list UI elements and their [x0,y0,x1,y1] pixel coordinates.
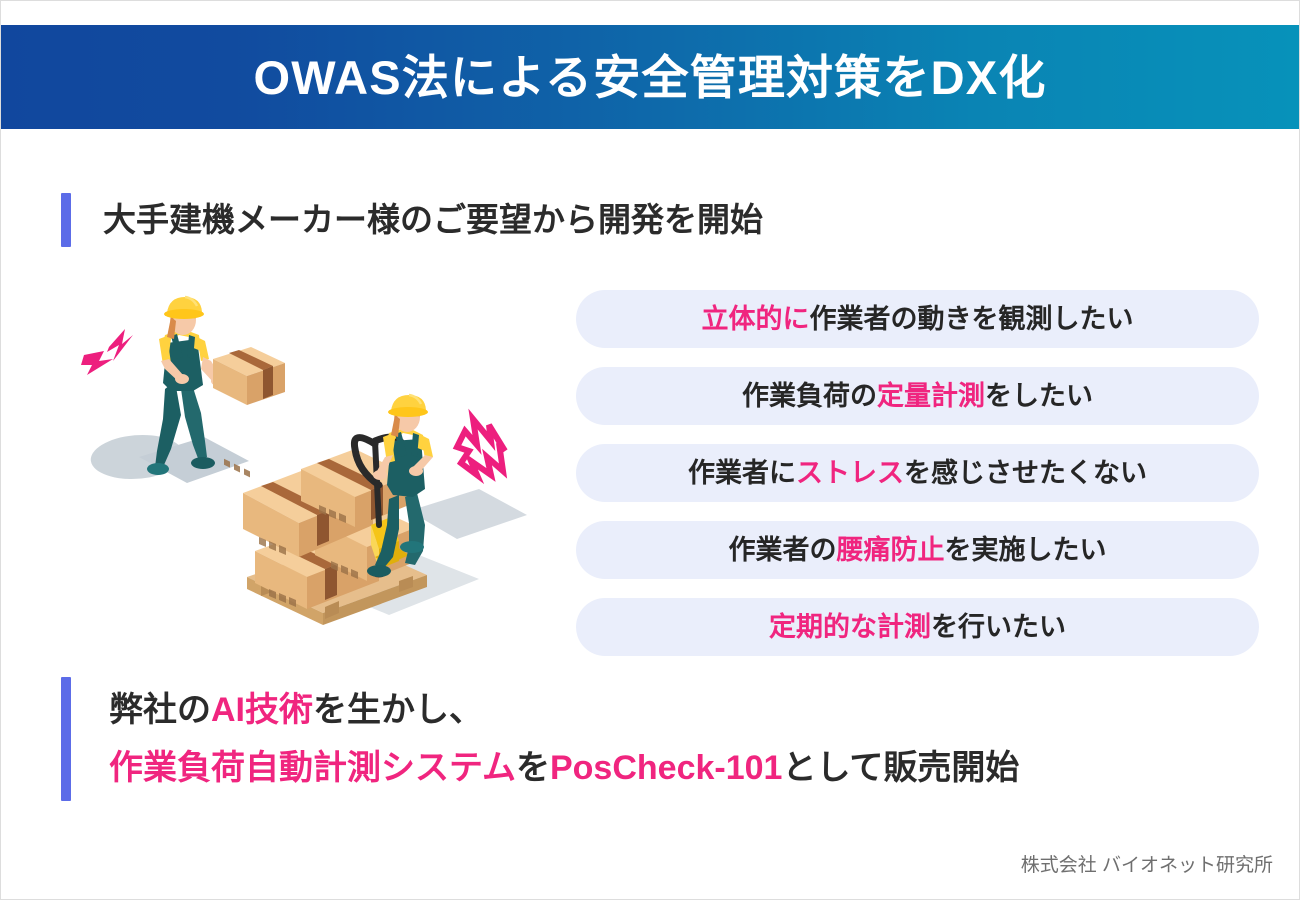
pill-text: を感じさせたくない [904,460,1147,487]
requirement-pill[interactable]: 作業者にストレスを感じさせたくない [576,444,1259,502]
statement-line-1: 弊社のAI技術を生かし、 [109,681,1019,739]
requirement-pill-list: 立体的に作業者の動きを観測したい 作業負荷の定量計測をしたい 作業者にストレスを… [576,290,1259,656]
statement-line2-highlight-b: PosCheck-101 [550,749,782,787]
pill-lead: 作業者の [729,537,837,564]
pill-highlight: ストレス [796,460,904,487]
pill-lead: 作業者に [688,460,796,487]
pill-text: をしたい [985,383,1093,410]
requirement-pill[interactable]: 立体的に作業者の動きを観測したい [576,290,1259,348]
requirement-pill[interactable]: 作業者の腰痛防止を実施したい [576,521,1259,579]
statement-line2-highlight-a: 作業負荷自動計測システム [109,749,516,787]
statement-line1-pre: 弊社の [109,691,211,729]
pill-highlight: 立体的に [702,306,810,333]
section-heading-top: 大手建機メーカー様のご要望から開発を開始 [61,193,763,247]
pill-highlight: 腰痛防止 [837,537,945,564]
pill-lead: 作業負荷の [742,383,877,410]
slide-page: OWAS法による安全管理対策をDX化 大手建機メーカー様のご要望から開発を開始 [0,0,1300,900]
pill-text: 作業者の動きを観測したい [810,306,1134,333]
pain-bolt-icon [81,329,133,375]
header-banner: OWAS法による安全管理対策をDX化 [0,25,1300,129]
isometric-workers-illustration [79,289,549,629]
page-title: OWAS法による安全管理対策をDX化 [253,54,1046,101]
statement-line1-post: を生かし、 [313,691,483,729]
requirement-pill[interactable]: 定期的な計測を行いたい [576,598,1259,656]
statement-line2-mid: を [516,749,550,787]
pill-highlight: 定期的な計測 [769,614,931,641]
accent-bar-bottom [61,677,71,801]
section-heading-top-label: 大手建機メーカー様のご要望から開発を開始 [103,201,763,239]
accent-bar-top [61,193,71,247]
pain-starburst-icon [457,419,505,475]
footer-company-credit: 株式会社 バイオネット研究所 [1021,850,1273,877]
section-heading-bottom: 弊社のAI技術を生かし、 作業負荷自動計測システムをPosCheck-101とし… [61,677,1019,801]
pill-highlight: 定量計測 [877,383,985,410]
pill-text: を実施したい [945,537,1107,564]
statement-block: 弊社のAI技術を生かし、 作業負荷自動計測システムをPosCheck-101とし… [109,677,1019,801]
statement-line-2: 作業負荷自動計測システムをPosCheck-101として販売開始 [109,739,1019,797]
requirement-pill[interactable]: 作業負荷の定量計測をしたい [576,367,1259,425]
statement-line2-post: として販売開始 [782,749,1019,787]
statement-line1-highlight: AI技術 [211,691,313,729]
pill-text: を行いたい [931,614,1066,641]
